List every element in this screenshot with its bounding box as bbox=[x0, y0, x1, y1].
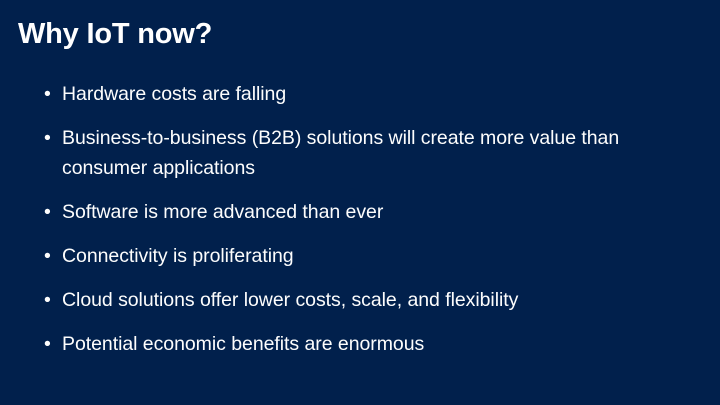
bullet-point-icon: • bbox=[44, 286, 51, 316]
presentation-slide: Why IoT now? • Hardware costs are fallin… bbox=[0, 0, 720, 405]
list-item-label: Business-to-business (B2B) solutions wil… bbox=[62, 124, 702, 183]
bullet-point-icon: • bbox=[44, 330, 51, 360]
list-item-label: Software is more advanced than ever bbox=[62, 198, 702, 228]
list-item-label: Hardware costs are falling bbox=[62, 80, 702, 110]
list-item: • Hardware costs are falling bbox=[42, 80, 702, 110]
list-item-label: Cloud solutions offer lower costs, scale… bbox=[62, 286, 702, 316]
bullet-point-icon: • bbox=[44, 124, 51, 154]
list-item: • Connectivity is proliferating bbox=[42, 242, 702, 272]
list-item: • Business-to-business (B2B) solutions w… bbox=[42, 124, 702, 183]
list-item: • Cloud solutions offer lower costs, sca… bbox=[42, 286, 702, 316]
bullet-point-icon: • bbox=[44, 242, 51, 272]
bullet-point-icon: • bbox=[44, 80, 51, 110]
bullet-list: • Hardware costs are falling • Business-… bbox=[42, 80, 702, 360]
list-item: • Software is more advanced than ever bbox=[42, 198, 702, 228]
list-item-label: Connectivity is proliferating bbox=[62, 242, 702, 272]
list-item-label: Potential economic benefits are enormous bbox=[62, 330, 702, 360]
page-title: Why IoT now? bbox=[18, 19, 212, 51]
bullet-point-icon: • bbox=[44, 198, 51, 228]
list-item: • Potential economic benefits are enormo… bbox=[42, 330, 702, 360]
